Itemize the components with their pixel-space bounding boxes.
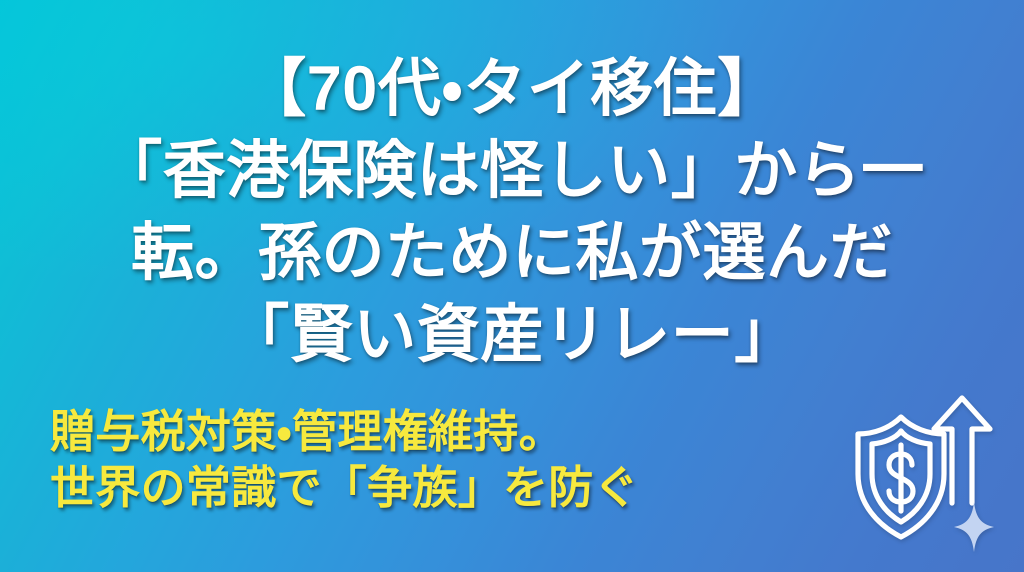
subtitle-line-1: 贈与税対策・管理権維持。 xyxy=(50,404,639,460)
title-block: 【70代・タイ移住】 「香港保険は怪しい」から一 転。孫のために私が選んだ 「賢… xyxy=(0,48,1024,376)
title-line-3: 転。孫のために私が選んだ xyxy=(0,212,1024,294)
four-point-sparkle-icon xyxy=(954,502,994,552)
title-line-2: 「香港保険は怪しい」から一 xyxy=(0,130,1024,212)
shield-dollar-growth-icon xyxy=(848,382,1024,558)
title-line-1: 【70代・タイ移住】 xyxy=(0,48,1024,130)
thumbnail-canvas: 【70代・タイ移住】 「香港保険は怪しい」から一 転。孫のために私が選んだ 「賢… xyxy=(0,0,1024,572)
title-line-4: 「賢い資産リレー」 xyxy=(0,294,1024,376)
subtitle-line-2: 世界の常識で「争族」を防ぐ xyxy=(50,460,639,516)
subtitle-block: 贈与税対策・管理権維持。 世界の常識で「争族」を防ぐ xyxy=(50,404,639,516)
